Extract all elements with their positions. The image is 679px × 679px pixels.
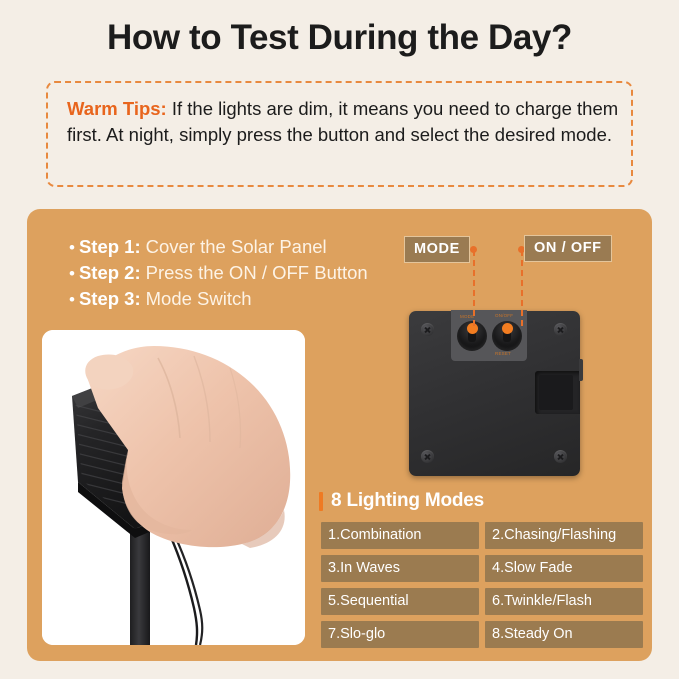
- device-side-tab: [579, 359, 583, 381]
- step-3-value: Mode Switch: [146, 286, 252, 311]
- mode-item-4: 4.Slow Fade: [485, 555, 643, 582]
- screw-icon: [421, 323, 434, 336]
- step-item-2: • Step 2: Press the ON / OFF Button: [69, 260, 409, 286]
- micro-label-reset: RESET: [495, 351, 511, 356]
- battery-compartment-inner: [539, 375, 573, 410]
- step-2-value: Press the ON / OFF Button: [146, 260, 368, 285]
- bullet-icon: •: [69, 235, 75, 260]
- step-2-key: Step 2:: [79, 260, 141, 285]
- modes-heading: 8 Lighting Modes: [319, 490, 484, 512]
- photo-illustration: [42, 330, 305, 645]
- mode-item-8: 8.Steady On: [485, 621, 643, 648]
- mode-item-5: 5.Sequential: [321, 588, 479, 615]
- mode-item-6: 6.Twinkle/Flash: [485, 588, 643, 615]
- solar-panel-photo: [42, 330, 305, 645]
- mode-button[interactable]: [457, 321, 487, 351]
- leader-line-mode: [473, 250, 475, 326]
- screw-icon: [554, 450, 567, 463]
- screw-icon: [421, 450, 434, 463]
- mode-item-3: 3.In Waves: [321, 555, 479, 582]
- step-item-3: • Step 3: Mode Switch: [69, 286, 409, 312]
- warm-tips-box: Warm Tips: If the lights are dim, it mea…: [46, 81, 633, 187]
- on-off-button[interactable]: [492, 321, 522, 351]
- accent-bar-icon: [319, 492, 323, 511]
- warm-tips-text: Warm Tips: If the lights are dim, it mea…: [67, 96, 619, 147]
- callout-mode: MODE: [404, 236, 470, 263]
- step-item-1: • Step 1: Cover the Solar Panel: [69, 234, 409, 260]
- callout-onoff: ON / OFF: [524, 235, 612, 262]
- lighting-modes-grid: 1.Combination 2.Chasing/Flashing 3.In Wa…: [321, 522, 643, 648]
- battery-compartment: [535, 371, 580, 414]
- micro-label-onoff: ON/OFF: [495, 313, 513, 318]
- modes-title-text: 8 Lighting Modes: [331, 490, 484, 512]
- step-3-key: Step 3:: [79, 286, 141, 311]
- page-title: How to Test During the Day?: [0, 18, 679, 58]
- controller-device: MODE ON/OFF RESET: [409, 311, 580, 476]
- screw-icon: [554, 323, 567, 336]
- mode-item-2: 2.Chasing/Flashing: [485, 522, 643, 549]
- warm-tips-label: Warm Tips:: [67, 98, 167, 119]
- leader-line-onoff: [521, 250, 523, 326]
- mode-item-7: 7.Slo-glo: [321, 621, 479, 648]
- button-dot-icon: [467, 323, 478, 334]
- bullet-icon: •: [69, 261, 75, 286]
- steps-list: • Step 1: Cover the Solar Panel • Step 2…: [69, 234, 409, 312]
- bullet-icon: •: [69, 287, 75, 312]
- mode-item-1: 1.Combination: [321, 522, 479, 549]
- button-plate: MODE ON/OFF RESET: [451, 310, 527, 361]
- button-dot-icon: [502, 323, 513, 334]
- step-1-value: Cover the Solar Panel: [146, 234, 327, 259]
- leader-dot-mode: [470, 246, 477, 253]
- step-1-key: Step 1:: [79, 234, 141, 259]
